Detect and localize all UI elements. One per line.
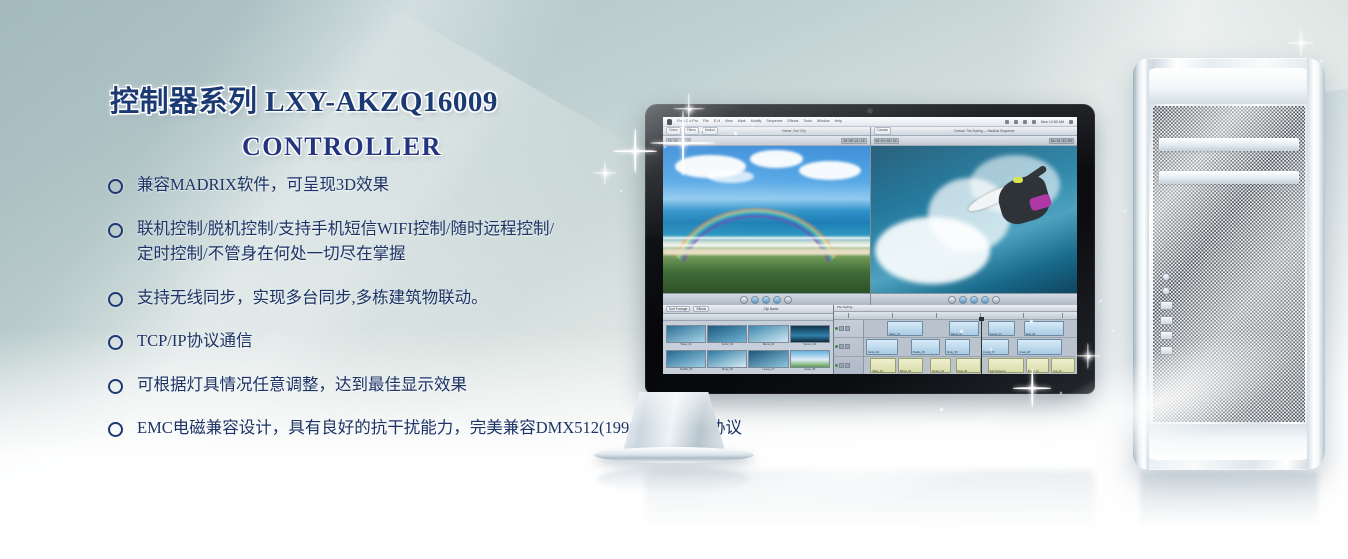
list-item[interactable]: Barrel_03 [749,325,787,347]
sparkle-dot [664,146,666,148]
list-item[interactable]: Wave_01 [667,325,705,347]
clip-label: Reef_09 [957,370,967,373]
bluetooth-icon[interactable] [1005,120,1009,124]
viewer-image-beach [663,146,870,293]
feature-text: 支持无线同步，实现多台同步,多栋建筑物联动。 [137,285,488,311]
menu-item-help[interactable]: Help [835,120,842,124]
headphone-port-icon[interactable] [1162,287,1170,295]
monitor-floor-reflection [645,470,1095,530]
ruler-tick [892,313,893,318]
viewer-panel: Video Filters Motion Viewer: Surf Clip 0… [663,127,871,305]
sparkle-dot [960,330,963,333]
track-lanes[interactable]: Wave_01 Barrel_03 Sunset_04 Reef_09 Surf… [864,320,1077,374]
viewer-toolbar[interactable]: 00:00:14:02 00:00:21:18 [663,136,870,146]
bullet-circle-icon [108,422,123,437]
tower-floor-reflection [1140,472,1318,542]
page-title: 控制器系列 LXY-AKZQ16009 [110,84,670,120]
canvas-panel: Canvas Canvas: The Surfing — Nautilus Se… [871,127,1078,305]
track-lock-icon[interactable] [839,344,844,349]
timeline-audio-clip[interactable]: Cut_12 [1051,358,1074,373]
timeline-clip[interactable]: Wave_01 [887,321,923,336]
browser-panel: Surf Footage Effects Clip Name Wave_01 S… [663,305,834,374]
timeline-audio-clip[interactable]: Surf Ambience [988,358,1024,373]
volume-icon[interactable] [1023,120,1027,124]
sparkle-dot [1030,320,1033,323]
menu-item-mark[interactable]: Mark [738,120,746,124]
clip-thumbnail[interactable] [790,325,830,343]
mark-in-button[interactable] [959,296,967,304]
tower-bottom-handle [1143,424,1315,460]
timeline-clip[interactable]: Surfer_02 [866,339,898,354]
clip-label: Spray_06 [946,351,958,354]
title-block: 控制器系列 LXY-AKZQ16009 CONTROLLER [110,84,670,162]
list-item[interactable]: Paddle_05 [667,350,705,372]
bullet-circle-icon [108,335,123,350]
clip-thumbnail[interactable] [790,350,830,368]
timeline-audio-clip[interactable]: Sunset_04 [930,358,951,373]
canvas-transport-controls[interactable] [871,293,1078,305]
sparkle-dot [1124,210,1126,212]
list-item[interactable]: Sunset_04 [791,325,829,347]
track-header-v1[interactable] [834,338,863,356]
clip-label: Barrel_03 [950,333,962,336]
list-item[interactable]: Coast_08 [791,350,829,372]
feature-text: 可根据灯具情况任意调整，达到最佳显示效果 [137,372,467,398]
clip-label: Sunset_04 [989,333,1002,336]
menu-item-modify[interactable]: Modify [751,120,762,124]
sparkle-dot [940,408,943,411]
monitor-bezel: Final Cut Pro File Edit View Mark Modify… [645,104,1095,394]
canvas-toolbar[interactable]: 00:01:05:10 01:01:32:05 [871,136,1078,146]
timeline-panel: The Surfing [834,305,1077,374]
track-enable-icon[interactable] [835,327,838,330]
play-button[interactable] [948,296,956,304]
mac-menu-bar[interactable]: Final Cut Pro File Edit View Mark Modify… [663,117,1077,127]
clip-label: Surfer_02 [867,351,879,354]
rainbow-arc [667,202,845,279]
tab-filters[interactable]: Filters [684,127,699,134]
optical-drive-slot[interactable] [1159,138,1299,151]
track-visibility-icon[interactable] [845,326,850,331]
clip-thumbnail[interactable] [666,350,706,368]
monitor-stand-base [594,447,754,463]
track-enable-icon[interactable] [835,364,838,367]
clip-label: Wave_01 [888,333,899,336]
sparkle-dot [1320,60,1322,62]
list-item: EMC电磁兼容设计，具有良好的抗干扰能力，完美兼容DMX512(1990)国际标… [108,415,868,441]
track-row-a1[interactable]: Wave_01 Barrel_03 Sunset_04 Reef_09 Surf… [864,357,1077,375]
timeline-clip[interactable]: Lineup_07 [981,339,1009,354]
menu-bar-clock[interactable]: Mon 10:50 AM [1041,120,1064,124]
clip-name: Spray_06 [722,369,733,372]
clip-label: Wave_01 [871,370,882,373]
search-icon[interactable] [1069,120,1073,124]
mark-out-button[interactable] [762,296,770,304]
list-item[interactable]: Surfer_02 [708,325,746,347]
viewer-tab-bar[interactable]: Video Filters Motion Viewer: Surf Clip [663,127,870,136]
clip-thumbnail[interactable] [748,350,788,368]
sparkle-dot [820,470,823,473]
viewer-transport-controls[interactable] [663,293,870,305]
feature-text: 联机控制/脱机控制/支持手机短信WIFI控制/随时远程控制/ 定时控制/不管身在… [137,216,554,267]
bullet-circle-icon [108,379,123,394]
sparkle-dot [1060,392,1062,394]
viewer-title: Viewer: Surf Clip [721,129,866,133]
tower-right-edge [1307,58,1325,470]
canvas-tab-bar[interactable]: Canvas Canvas: The Surfing — Nautilus Se… [871,127,1078,136]
battery-icon[interactable] [1032,120,1036,124]
canvas-image-surfer [871,146,1078,293]
desktop-tower [1133,58,1325,470]
clip-label: Surf Ambience [989,370,1006,373]
canvas-timecode-out[interactable]: 01:01:32:05 [1049,138,1074,144]
track-row-v1[interactable]: Surfer_02 Paddle_05 Spray_06 Lineup_07 C… [864,338,1077,356]
clip-thumbnail-grid[interactable]: Wave_01 Surfer_02 Barrel_03 Sunset_04 Pa… [663,321,833,374]
monitor-stand-neck [622,392,726,454]
add-keyframe-button[interactable] [773,296,781,304]
track-mute-icon[interactable] [839,363,844,368]
clip-name: Lineup_07 [762,369,774,372]
bullet-circle-icon [108,223,123,238]
usb-port-icon[interactable] [1160,301,1173,310]
menu-item-sequence[interactable]: Sequence [766,120,782,124]
sand-strip [663,249,870,255]
track-solo-icon[interactable] [845,363,850,368]
cloud-shape [750,150,804,168]
timeline-audio-clip[interactable]: Board_10 [1026,358,1049,373]
browser-column-header: Clip Name [712,307,830,311]
timeline-clip[interactable]: Paddle_05 [911,339,941,354]
clip-label: Reef_09 [1025,333,1035,336]
sparkle-dot [900,430,902,432]
track-visibility-icon[interactable] [845,344,850,349]
clip-thumbnail[interactable] [707,350,747,368]
viewer-row: Video Filters Motion Viewer: Surf Clip 0… [663,127,1077,305]
canvas-timecode-in[interactable]: 00:01:05:10 [874,138,899,144]
clip-label: Coast_08 [1018,351,1030,354]
tab-motion[interactable]: Motion [702,127,718,134]
track-header-column[interactable] [834,320,864,374]
clip-label: Paddle_05 [912,351,925,354]
feature-text-line1: 联机控制/脱机控制/支持手机短信WIFI控制/随时远程控制/ [137,216,554,242]
sparkle-dot [636,150,638,152]
clip-name: Paddle_05 [680,369,692,372]
usb-port-icon[interactable] [1160,316,1173,325]
browser-header-strip [663,314,833,321]
airport-icon[interactable] [1014,120,1018,124]
apple-logo-icon[interactable] [667,119,672,125]
lower-panes: Surf Footage Effects Clip Name Wave_01 S… [663,305,1077,374]
track-enable-icon[interactable] [835,345,838,348]
timeline-ruler[interactable] [834,312,1077,320]
clip-name: Coast_08 [804,369,815,372]
timeline-audio-clip[interactable]: Reef_09 [956,358,981,373]
sparkle-dot [700,128,703,131]
cloud-shape [708,170,753,183]
feature-text-line2: 定时控制/不管身在何处一切尽在掌握 [137,241,554,267]
optical-drive-slot[interactable] [1159,171,1299,184]
firewire-port-icon[interactable] [1160,331,1173,340]
surfer-wrist-band [1013,177,1023,183]
browser-tab-bar[interactable]: Surf Footage Effects Clip Name [663,305,833,314]
timeline-clip[interactable]: Coast_08 [1017,339,1062,354]
sparkle-dot [860,452,862,454]
surf-line [663,237,870,239]
copy-column: 控制器系列 LXY-AKZQ16009 CONTROLLER 兼容MADRIX软… [0,0,700,559]
tab-video[interactable]: Video [666,127,681,134]
front-port-cluster[interactable] [1159,273,1173,355]
monitor-screen: Final Cut Pro File Edit View Mark Modify… [663,117,1077,374]
track-header-a1[interactable] [834,357,863,375]
ruler-tick [848,313,849,318]
product-banner: 控制器系列 LXY-AKZQ16009 CONTROLLER 兼容MADRIX软… [0,0,1348,559]
sparkle-dot [1112,330,1114,332]
ruler-tick [1023,313,1024,318]
clip-label: Sunset_04 [931,370,944,373]
timeline-title: The Surfing [834,305,1077,312]
menu-item-effects[interactable]: Effects [788,120,799,124]
timeline-audio-clip[interactable]: Wave_01 [870,358,895,373]
timeline-clip[interactable]: Reef_09 [1024,321,1064,336]
surf-line [663,244,870,247]
timeline-body: Wave_01 Barrel_03 Sunset_04 Reef_09 Surf… [834,320,1077,374]
computer-monitor: Final Cut Pro File Edit View Mark Modify… [645,104,1095,394]
play-button[interactable] [740,296,748,304]
menu-item-app[interactable]: Final Cut Pro [677,120,698,124]
timecode-in[interactable]: 00:00:14:02 [666,138,691,144]
clip-name: Surfer_02 [722,344,733,347]
canvas-title: Canvas: The Surfing — Nautilus Sequence [894,129,1074,133]
clip-name: Wave_01 [681,344,692,347]
clip-label: Barrel_03 [899,370,911,373]
mark-out-button[interactable] [970,296,978,304]
timeline-clip[interactable]: Barrel_03 [949,321,979,336]
track-header-v2[interactable] [834,320,863,338]
tab-surf-footage[interactable]: Surf Footage [666,306,690,312]
sparkle-dot [752,124,754,126]
ruler-tick [936,313,937,318]
webcam-icon [868,109,872,113]
add-marker-button[interactable] [992,296,1000,304]
timeline-playhead[interactable] [981,320,982,374]
bullet-circle-icon [108,179,123,194]
tower-top-handle [1143,68,1315,104]
tab-effects[interactable]: Effects [693,306,709,312]
clip-label: Cut_12 [1052,370,1061,373]
tower-left-edge [1133,58,1149,470]
menu-item-window[interactable]: Window [817,120,830,124]
menu-item-tools[interactable]: Tools [803,120,811,124]
bullet-circle-icon [108,292,123,307]
clip-thumbnail[interactable] [707,325,747,343]
feature-text: TCP/IP协议通信 [137,328,253,354]
menu-item-view[interactable]: View [725,120,733,124]
sparkle-dot [1100,300,1102,302]
page-subtitle: CONTROLLER [110,132,670,162]
cloud-shape [799,161,861,180]
clip-thumbnail[interactable] [666,325,706,343]
track-lock-icon[interactable] [839,326,844,331]
clip-label: Board_10 [1027,370,1039,373]
firewire-port-icon[interactable] [1160,346,1173,355]
feature-text: 兼容MADRIX软件，可呈现3D效果 [137,172,389,198]
menu-item-file[interactable]: File [703,120,709,124]
sparkle-dot [1150,250,1152,252]
clip-label: Lineup_07 [982,351,995,354]
clip-name: Sunset_04 [803,344,815,347]
power-button-icon[interactable] [1162,273,1170,281]
sparkle-dot [990,348,992,350]
timeline-clip[interactable]: Sunset_04 [988,321,1016,336]
clip-name: Barrel_03 [763,344,774,347]
ruler-tick [1062,313,1063,318]
add-marker-button[interactable] [784,296,792,304]
tab-canvas[interactable]: Canvas [874,127,892,134]
mark-in-button[interactable] [751,296,759,304]
tower-mesh-grill [1153,106,1305,422]
timeline-clip[interactable]: Spray_06 [945,339,970,354]
clip-thumbnail[interactable] [748,325,788,343]
add-keyframe-button[interactable] [981,296,989,304]
list-item[interactable]: Spray_06 [708,350,746,372]
track-row-v2[interactable]: Wave_01 Barrel_03 Sunset_04 Reef_09 [864,320,1077,338]
stand-highlight [622,392,726,454]
timeline-audio-clip[interactable]: Barrel_03 [898,358,923,373]
sparkle-dot [620,190,622,192]
sparkle-dot [716,120,718,122]
timecode-out[interactable]: 00:00:21:18 [841,138,866,144]
list-item[interactable]: Lineup_07 [749,350,787,372]
sparkle-dot [734,132,737,135]
